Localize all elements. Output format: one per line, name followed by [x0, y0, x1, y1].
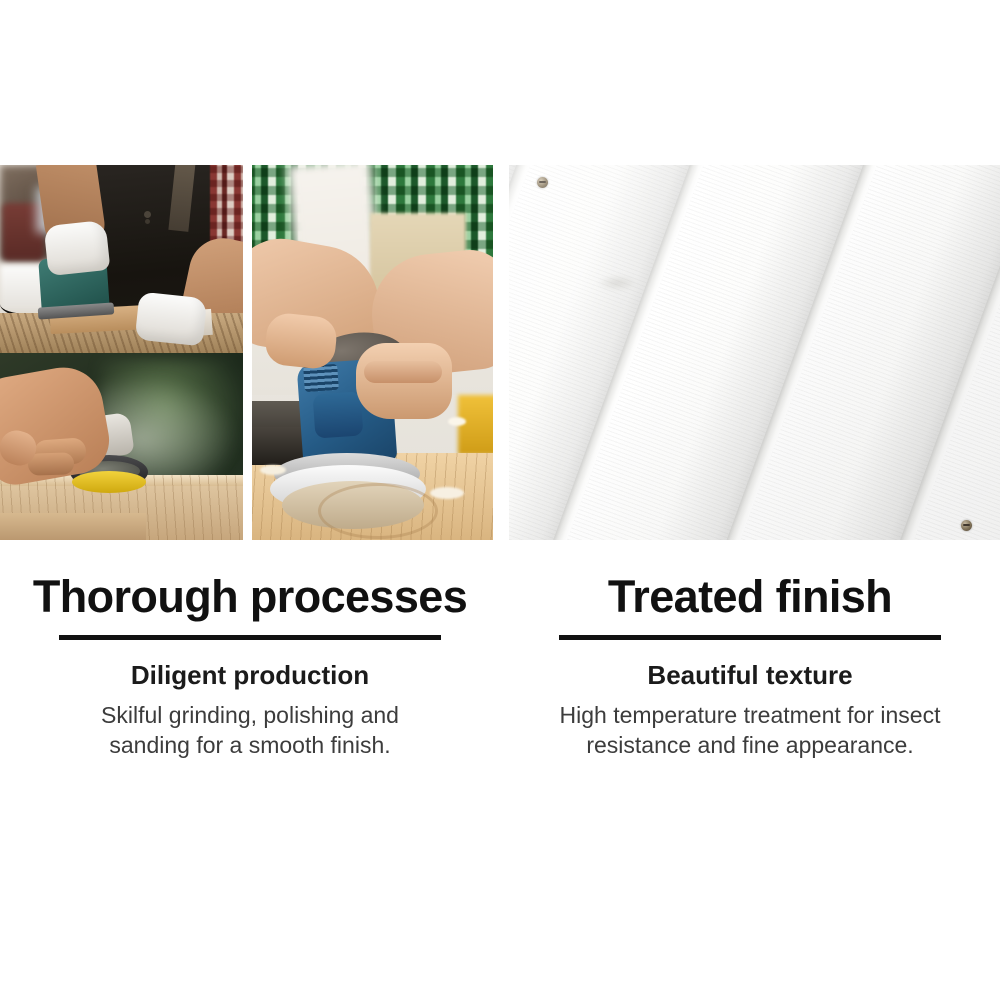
middle-image-column: [252, 165, 493, 540]
photo-hands-angle-grinder-polishing-timber: [0, 353, 243, 540]
sawdust-speck-3: [448, 417, 466, 426]
left-image-column: [0, 165, 243, 540]
photo-man-random-orbit-sander-plank: [252, 165, 493, 540]
sawdust-speck-2: [430, 487, 464, 499]
right-headline: Treated finish: [500, 574, 1000, 619]
left-body-text: Skilful grinding, polishing and sanding …: [0, 701, 500, 761]
photo-carpenter-palm-sanding-board: [0, 165, 243, 353]
white-slat-panel: [509, 165, 1000, 540]
panel-shading: [509, 165, 1000, 540]
right-body-line-1: High temperature treatment for insect: [500, 701, 1000, 731]
right-body-line-2: resistance and fine appearance.: [500, 731, 1000, 761]
image-band: [0, 165, 1000, 540]
timber-plank-lower: [0, 513, 146, 540]
polishing-disc-yellow-backing: [72, 471, 146, 493]
right-image-column: [509, 165, 1000, 540]
operator-finger-lower: [28, 452, 75, 476]
workshop-scene: [0, 165, 243, 353]
right-subheading: Beautiful texture: [500, 661, 1000, 691]
right-body-text: High temperature treatment for insect re…: [500, 701, 1000, 761]
left-divider-rule: [59, 635, 441, 640]
white-glove-right: [135, 292, 208, 347]
left-text-column: Thorough processes Diligent production S…: [0, 560, 500, 761]
worker-knuckles: [364, 361, 442, 383]
sander-grip: [313, 391, 364, 438]
text-band: Thorough processes Diligent production S…: [0, 560, 1000, 790]
left-subheading: Diligent production: [0, 661, 500, 691]
orbital-sanding-scene: [252, 165, 493, 540]
sawdust-speck-1: [260, 465, 286, 475]
sanded-ring-mark: [318, 483, 438, 539]
sander-vents: [303, 364, 339, 392]
left-headline: Thorough processes: [0, 574, 500, 619]
outdoor-polishing-scene: [0, 353, 243, 540]
left-body-line-1: Skilful grinding, polishing and: [0, 701, 500, 731]
worker-left-hand: [263, 311, 338, 370]
product-feature-page: Thorough processes Diligent production S…: [0, 0, 1000, 1000]
photo-white-painted-timber-slats-closeup: [509, 165, 1000, 540]
right-text-column: Treated finish Beautiful texture High te…: [500, 560, 1000, 761]
left-body-line-2: sanding for a smooth finish.: [0, 731, 500, 761]
white-glove-left: [44, 220, 111, 276]
yellow-object: [458, 395, 493, 455]
right-divider-rule: [559, 635, 941, 640]
